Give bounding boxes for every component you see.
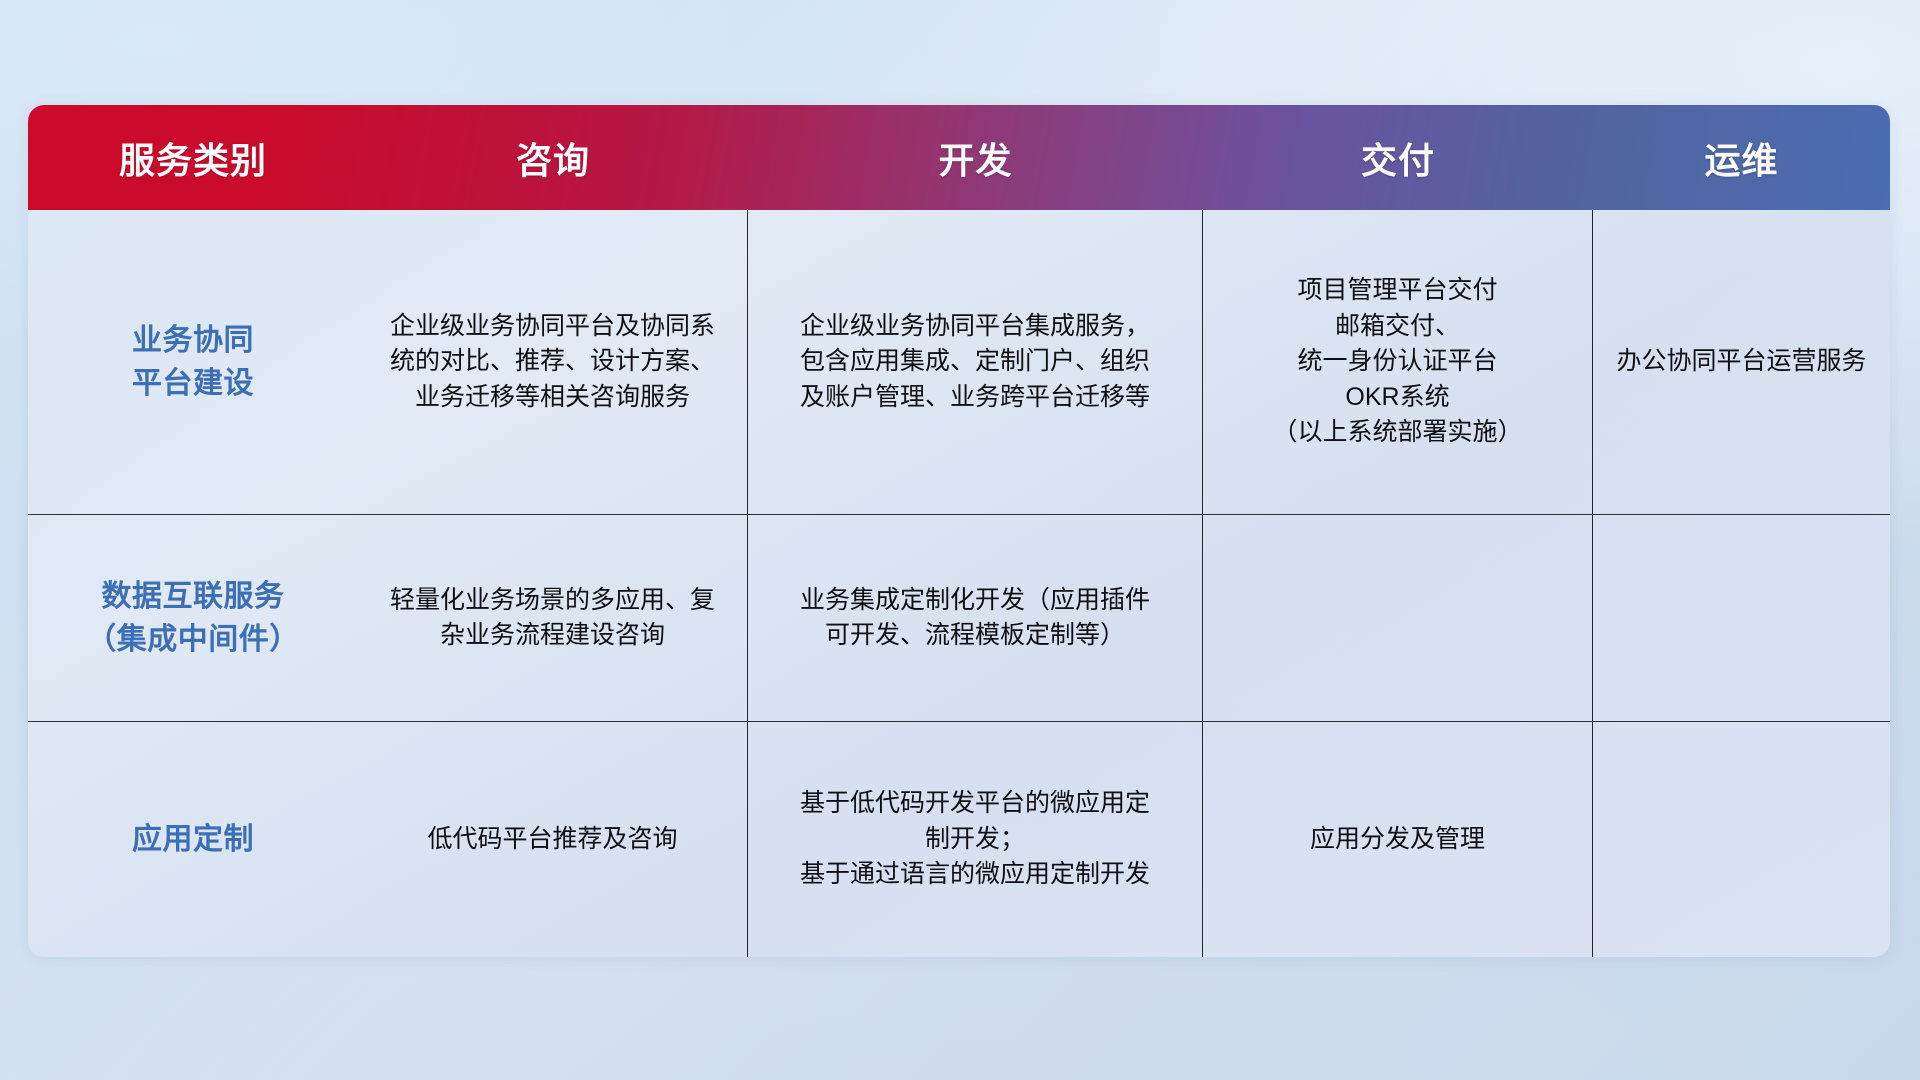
cell-consulting-application-customization: 低代码平台推荐及咨询 <box>358 722 748 957</box>
cell-delivery-business-collaboration-platform: 项目管理平台交付 邮箱交付、 统一身份认证平台 OKR系统 （以上系统部署实施） <box>1203 210 1593 514</box>
cell-delivery-data-interconnection-service <box>1203 515 1593 721</box>
table-header-operations: 运维 <box>1593 132 1890 184</box>
table-row: 数据互联服务 （集成中间件） 轻量化业务场景的多应用、复 杂业务流程建设咨询 业… <box>28 515 1890 722</box>
table-header-row: 服务类别 咨询 开发 交付 运维 <box>28 105 1890 210</box>
service-matrix-table: 服务类别 咨询 开发 交付 运维 业务协同 平台建设 企业级业务协同平台及协同系… <box>28 105 1890 957</box>
cell-development-application-customization: 基于低代码开发平台的微应用定 制开发； 基于通过语言的微应用定制开发 <box>748 722 1203 957</box>
row-label-business-collaboration-platform: 业务协同 平台建设 <box>28 210 358 514</box>
table-header-consulting: 咨询 <box>358 132 748 184</box>
row-label-application-customization: 应用定制 <box>28 722 358 957</box>
table-row: 业务协同 平台建设 企业级业务协同平台及协同系 统的对比、推荐、设计方案、 业务… <box>28 210 1890 515</box>
cell-operations-business-collaboration-platform: 办公协同平台运营服务 <box>1593 210 1890 514</box>
cell-consulting-business-collaboration-platform: 企业级业务协同平台及协同系 统的对比、推荐、设计方案、 业务迁移等相关咨询服务 <box>358 210 748 514</box>
table-body: 业务协同 平台建设 企业级业务协同平台及协同系 统的对比、推荐、设计方案、 业务… <box>28 210 1890 957</box>
cell-development-data-interconnection-service: 业务集成定制化开发（应用插件 可开发、流程模板定制等） <box>748 515 1203 721</box>
cell-operations-data-interconnection-service <box>1593 515 1890 721</box>
table-row: 应用定制 低代码平台推荐及咨询 基于低代码开发平台的微应用定 制开发； 基于通过… <box>28 722 1890 957</box>
cell-delivery-application-customization: 应用分发及管理 <box>1203 722 1593 957</box>
cell-development-business-collaboration-platform: 企业级业务协同平台集成服务， 包含应用集成、定制门户、组织 及账户管理、业务跨平… <box>748 210 1203 514</box>
table-header-development: 开发 <box>748 132 1203 184</box>
cell-operations-application-customization <box>1593 722 1890 957</box>
row-label-data-interconnection-service: 数据互联服务 （集成中间件） <box>28 515 358 721</box>
cell-consulting-data-interconnection-service: 轻量化业务场景的多应用、复 杂业务流程建设咨询 <box>358 515 748 721</box>
table-header-delivery: 交付 <box>1203 132 1593 184</box>
table-header-service-category: 服务类别 <box>28 132 358 184</box>
